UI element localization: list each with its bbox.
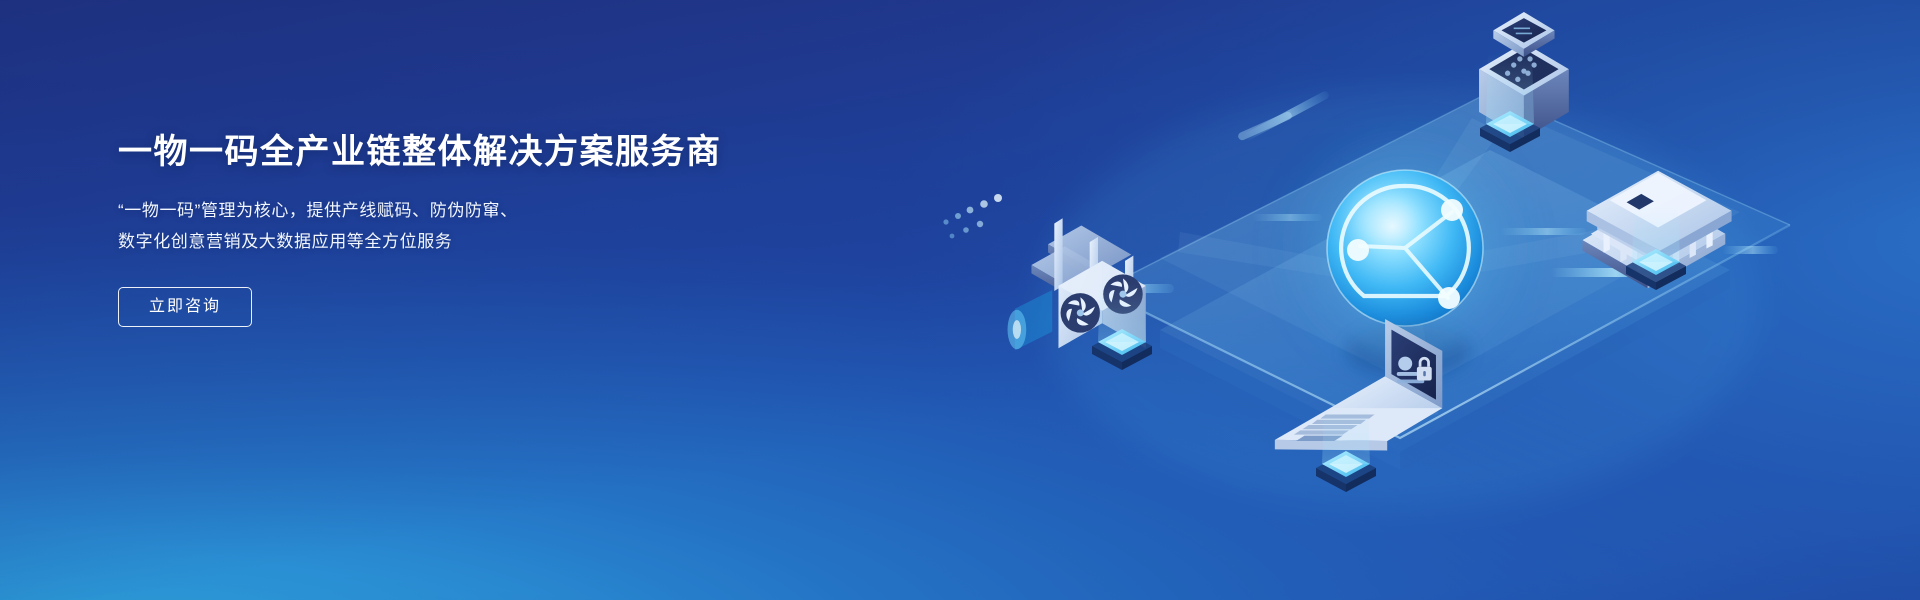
hero-subtitle-line-2: 数字化创意营销及大数据应用等全方位服务 — [118, 226, 758, 257]
hero-subtitle: “一物一码”管理为核心，提供产线赋码、防伪防窜、 数字化创意营销及大数据应用等全… — [118, 195, 758, 257]
page-title: 一物一码全产业链整体解决方案服务商 — [118, 132, 758, 173]
hero-subtitle-line-1: “一物一码”管理为核心，提供产线赋码、防伪防窜、 — [118, 195, 758, 226]
hero-copy: 一物一码全产业链整体解决方案服务商 “一物一码”管理为核心，提供产线赋码、防伪防… — [118, 132, 758, 327]
hero-banner: 一物一码全产业链整体解决方案服务商 “一物一码”管理为核心，提供产线赋码、防伪防… — [0, 0, 1920, 600]
consult-now-button[interactable]: 立即咨询 — [118, 287, 252, 327]
